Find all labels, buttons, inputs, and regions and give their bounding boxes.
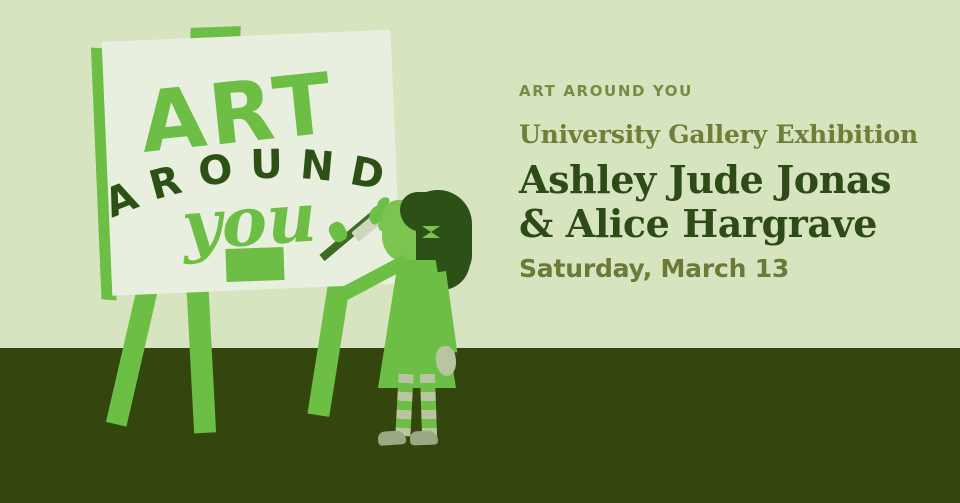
event-banner: ART A R O U N D you bbox=[0, 0, 960, 503]
girl-shoe bbox=[378, 430, 407, 446]
girl-painter-figure bbox=[360, 188, 520, 448]
girl-striped-leg bbox=[420, 374, 437, 436]
artist-name-line-1: Ashley Jude Jonas bbox=[519, 158, 939, 202]
event-date: Saturday, March 13 bbox=[519, 256, 939, 281]
easel-leg-middle bbox=[186, 277, 216, 433]
exhibition-subtitle: University Gallery Exhibition bbox=[519, 121, 939, 150]
artist-names-headline: Ashley Jude Jonas & Alice Hargrave bbox=[519, 158, 939, 246]
artist-name-line-2: & Alice Hargrave bbox=[519, 202, 939, 246]
event-text-block: ART AROUND YOU University Gallery Exhibi… bbox=[519, 84, 939, 281]
girl-nose bbox=[378, 218, 394, 232]
eyebrow-label: ART AROUND YOU bbox=[519, 84, 939, 99]
canvas-word-you: you bbox=[179, 177, 319, 266]
girl-shoe bbox=[410, 431, 438, 446]
girl-eye bbox=[404, 212, 411, 221]
girl-striped-leg bbox=[395, 374, 413, 437]
